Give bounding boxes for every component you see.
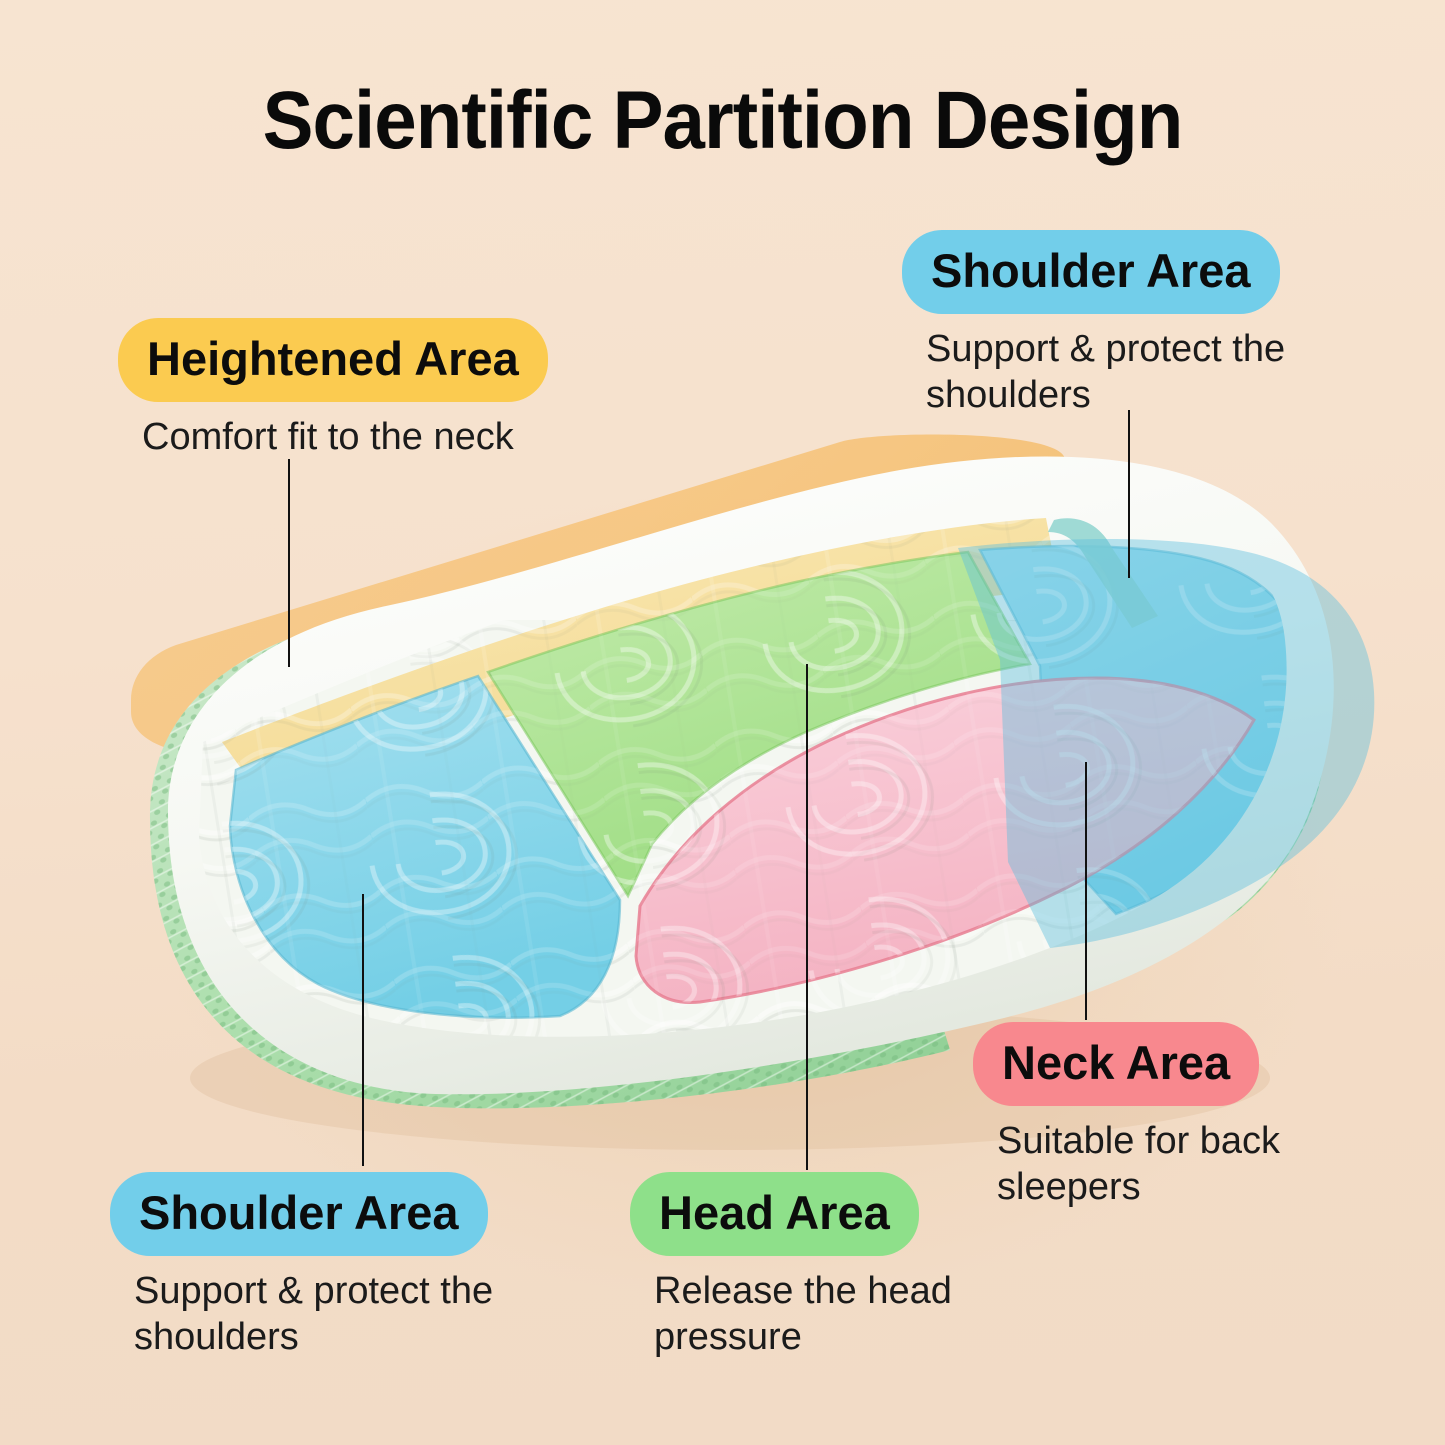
infographic-page: Scientific Partition Design [0, 0, 1445, 1445]
callout-description-heightened-area: Comfort fit to the neck [118, 414, 548, 460]
leader-line-shoulder-bottom [362, 894, 364, 1166]
callout-description-neck-area: Suitable for back sleepers [973, 1118, 1317, 1210]
callout-label-head-area: Head Area [630, 1172, 919, 1256]
callout-head-area: Head Area Release the head pressure [630, 1172, 964, 1360]
callout-label-shoulder-area-bottom: Shoulder Area [110, 1172, 488, 1256]
callout-description-shoulder-area-top: Support & protect the shoulders [902, 326, 1326, 418]
callout-description-shoulder-area-bottom: Support & protect the shoulders [110, 1268, 534, 1360]
leader-line-head [806, 664, 808, 1170]
callout-description-head-area: Release the head pressure [630, 1268, 964, 1360]
leader-line-shoulder-top [1128, 410, 1130, 578]
callout-shoulder-area-top: Shoulder Area Support & protect the shou… [902, 230, 1326, 418]
callout-heightened-area: Heightened Area Comfort fit to the neck [118, 318, 548, 460]
callout-shoulder-area-bottom: Shoulder Area Support & protect the shou… [110, 1172, 534, 1360]
leader-line-heightened [288, 459, 290, 667]
callout-label-shoulder-area-top: Shoulder Area [902, 230, 1280, 314]
callout-neck-area: Neck Area Suitable for back sleepers [973, 1022, 1317, 1210]
callout-label-neck-area: Neck Area [973, 1022, 1259, 1106]
leader-line-neck [1085, 762, 1087, 1020]
zone-overlay-shoulder-right [958, 539, 1374, 948]
callout-label-heightened-area: Heightened Area [118, 318, 548, 402]
